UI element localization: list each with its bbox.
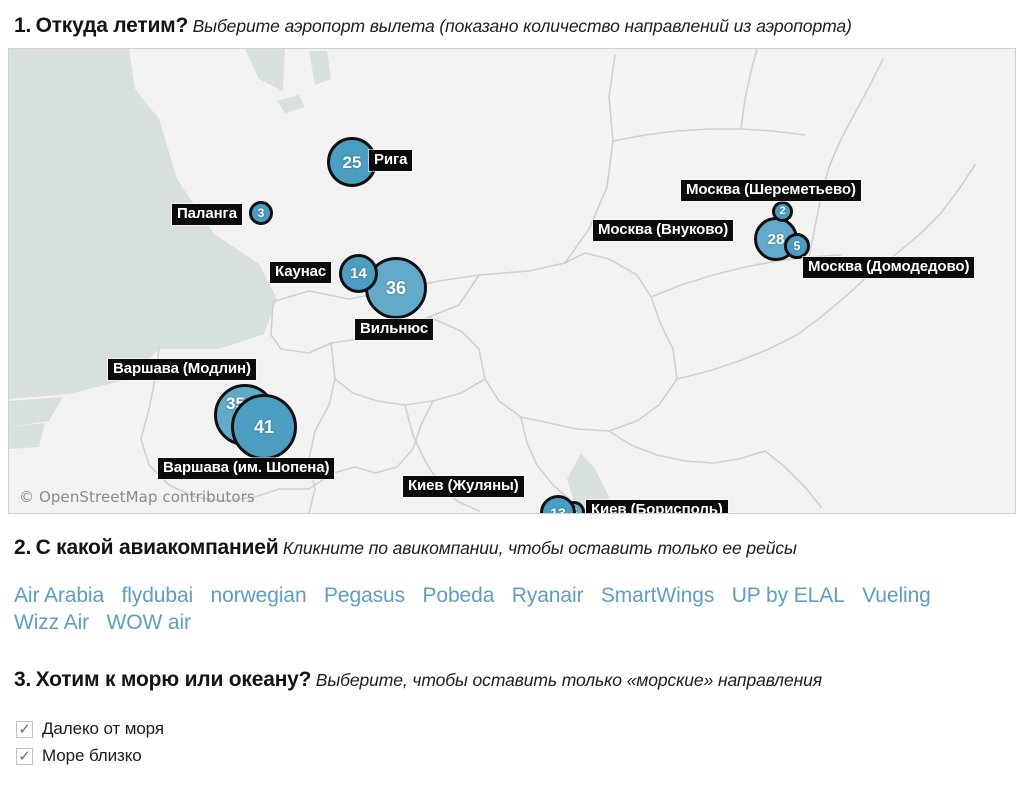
airport-label-palanga[interactable]: Паланга bbox=[172, 204, 242, 225]
airport-label-warsaw-chopin[interactable]: Варшава (им. Шопена) bbox=[158, 458, 334, 479]
sea-option-far-from-sea[interactable]: ✓ Далеко от моря bbox=[16, 719, 164, 739]
airline-link[interactable]: Vueling bbox=[862, 584, 931, 608]
airport-marker-vilnius-value: 36 bbox=[386, 279, 406, 297]
airport-label-moscow-vnukovo[interactable]: Москва (Внуково) bbox=[593, 220, 733, 241]
airport-marker-moscow-sheremetyevo-value: 2 bbox=[779, 206, 785, 217]
airport-marker-moscow-vnukovo-value: 28 bbox=[768, 232, 785, 247]
airport-label-moscow-sheremetyevo[interactable]: Москва (Шереметьево) bbox=[681, 180, 861, 201]
airport-label-riga[interactable]: Рига bbox=[369, 150, 412, 171]
section-2-header: 2. С какой авиакомпанией Кликните по ави… bbox=[0, 536, 797, 560]
airline-link[interactable]: WOW air bbox=[106, 611, 190, 635]
checkbox-far-from-sea[interactable]: ✓ bbox=[16, 721, 33, 738]
airline-link[interactable]: Ryanair bbox=[512, 584, 584, 608]
airport-label-warsaw-modlin[interactable]: Варшава (Модлин) bbox=[108, 359, 256, 380]
section-2-number: 2. bbox=[14, 536, 31, 559]
airport-label-kaunas[interactable]: Каунас bbox=[270, 262, 331, 283]
sea-proximity-options: ✓ Далеко от моря ✓ Море близко bbox=[16, 719, 164, 773]
airport-marker-warsaw-chopin[interactable]: 41 bbox=[231, 394, 297, 460]
airline-link[interactable]: Pegasus bbox=[324, 584, 405, 608]
airport-marker-moscow-domodedovo-value: 5 bbox=[794, 240, 801, 252]
section-3-header: 3. Хотим к морю или океану? Выберите, чт… bbox=[0, 668, 822, 692]
departure-airport-map[interactable]: © OpenStreetMap contributors 25 Рига 3 П… bbox=[8, 48, 1016, 514]
airline-link[interactable]: UP by ELAL bbox=[732, 584, 845, 608]
airline-link[interactable]: SmartWings bbox=[601, 584, 714, 608]
airport-marker-palanga-value: 3 bbox=[258, 207, 265, 219]
airport-marker-moscow-sheremetyevo[interactable]: 2 bbox=[772, 201, 793, 222]
check-icon: ✓ bbox=[18, 749, 31, 764]
section-2-title: С какой авиакомпанией bbox=[36, 536, 279, 559]
sea-option-near-sea[interactable]: ✓ Море близко bbox=[16, 746, 164, 766]
section-1-header: 1. Откуда летим? Выберите аэропорт вылет… bbox=[0, 14, 852, 38]
airline-link[interactable]: Pobeda bbox=[422, 584, 494, 608]
section-1-number: 1. bbox=[14, 14, 31, 37]
airport-label-kyiv-zhuliany[interactable]: Киев (Жуляны) bbox=[403, 476, 524, 497]
sea-option-far-from-sea-label: Далеко от моря bbox=[42, 719, 164, 739]
section-1-title: Откуда летим? bbox=[36, 14, 189, 37]
airport-marker-kyiv-zhuliany-value: 13 bbox=[550, 506, 566, 514]
airline-link[interactable]: norwegian bbox=[211, 584, 307, 608]
section-3-title: Хотим к морю или океану? bbox=[36, 668, 312, 691]
airport-marker-kaunas-value: 14 bbox=[350, 266, 367, 281]
checkbox-near-sea[interactable]: ✓ bbox=[16, 748, 33, 765]
airport-label-moscow-domodedovo[interactable]: Москва (Домодедово) bbox=[803, 257, 974, 278]
airport-label-kyiv-boryspil[interactable]: Киев (Борисполь) bbox=[586, 500, 728, 514]
airport-label-vilnius[interactable]: Вильнюс bbox=[355, 319, 433, 340]
section-1-subtitle: Выберите аэропорт вылета (показано колич… bbox=[193, 16, 852, 36]
airport-marker-warsaw-chopin-value: 41 bbox=[254, 418, 274, 436]
check-icon: ✓ bbox=[18, 722, 31, 737]
section-3-subtitle: Выберите, чтобы оставить только «морские… bbox=[316, 670, 822, 690]
map-basemap bbox=[9, 49, 1015, 513]
osm-attribution: © OpenStreetMap contributors bbox=[19, 488, 255, 506]
airline-link[interactable]: Wizz Air bbox=[14, 611, 89, 635]
airport-marker-kaunas[interactable]: 14 bbox=[339, 254, 378, 293]
airport-marker-palanga[interactable]: 3 bbox=[249, 201, 273, 225]
airline-link[interactable]: flydubai bbox=[122, 584, 194, 608]
airport-marker-moscow-domodedovo[interactable]: 5 bbox=[784, 233, 810, 259]
sea-option-near-sea-label: Море близко bbox=[42, 746, 142, 766]
section-2-subtitle: Кликните по авикомпании, чтобы оставить … bbox=[283, 538, 797, 558]
airline-link[interactable]: Air Arabia bbox=[14, 584, 104, 608]
section-3-number: 3. bbox=[14, 668, 31, 691]
airline-filter-list: Air Arabia flydubai norwegian Pegasus Po… bbox=[14, 584, 1009, 638]
airport-marker-riga-value: 25 bbox=[343, 154, 362, 171]
